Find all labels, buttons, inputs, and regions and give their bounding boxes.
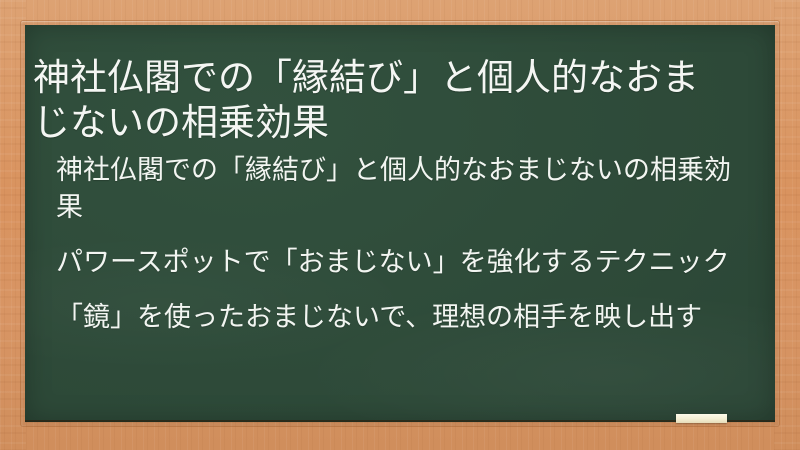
list-item: 神社仏閣での「縁結び」と個人的なおまじないの相乗効果 — [56, 152, 748, 226]
list-item: 「鏡」を使ったおまじないで、理想の相手を映し出す — [56, 299, 748, 336]
chalkboard-slide: 神社仏閣での「縁結び」と個人的なおまじないの相乗効果 神社仏閣での「縁結び」と個… — [0, 0, 800, 450]
chalk-stick-icon — [676, 414, 727, 423]
list-item: パワースポットで「おまじない」を強化するテクニック — [56, 244, 748, 281]
board-ledge-shadow — [25, 420, 775, 423]
outline-list: 神社仏閣での「縁結び」と個人的なおまじないの相乗効果 パワースポットで「おまじな… — [56, 152, 748, 336]
slide-title: 神社仏閣での「縁結び」と個人的なおまじないの相乗効果 — [33, 55, 733, 145]
chalkboard-surface: 神社仏閣での「縁結び」と個人的なおまじないの相乗効果 神社仏閣での「縁結び」と個… — [25, 25, 775, 422]
